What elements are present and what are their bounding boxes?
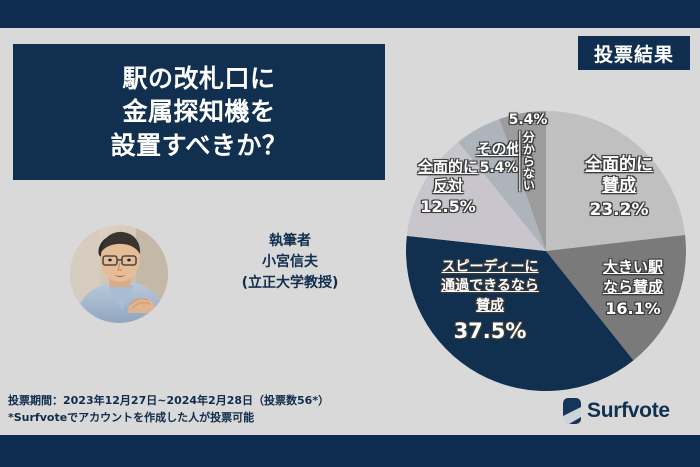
page-title-line-1: 駅の改札口に bbox=[122, 62, 275, 95]
surfvote-wordmark: Surfvote bbox=[587, 399, 670, 423]
question-title-box: 駅の改札口に 金属探知機を 設置すべきか？ bbox=[13, 44, 385, 180]
status-badge: 投票結果 bbox=[578, 36, 690, 70]
avatar-portrait-icon bbox=[70, 225, 168, 323]
vote-period: 投票期間：2023年12月27日~2024年2月28日（投票数56*） bbox=[8, 392, 428, 409]
author-role: 執筆者 bbox=[205, 231, 375, 252]
avatar bbox=[70, 225, 168, 323]
page-title-line-3: 設置すべきか？ bbox=[111, 129, 288, 162]
author-block: 執筆者 小宮信夫 (立正大学教授) bbox=[70, 225, 370, 340]
pie-slices bbox=[406, 111, 686, 391]
bottom-navy-bar bbox=[0, 435, 700, 467]
status-badge-label: 投票結果 bbox=[594, 40, 674, 67]
poll-result-pie-chart: 全面的に 賛成 23.2% 大きい駅 なら賛成 16.1% スピーディーに 通過… bbox=[405, 110, 687, 392]
poster-canvas: 投票結果 駅の改札口に 金属探知機を 設置すべきか？ bbox=[0, 0, 700, 467]
footer-note: 投票期間：2023年12月27日~2024年2月28日（投票数56*） *Sur… bbox=[8, 392, 428, 426]
vote-eligibility-note: *Surfvoteでアカウントを作成した人が投票可能 bbox=[8, 409, 428, 426]
surfvote-logo: Surfvote bbox=[563, 398, 670, 424]
pie-slice-0 bbox=[546, 111, 685, 251]
page-title-line-2: 金属探知機を bbox=[122, 95, 275, 128]
surfvote-mark-icon bbox=[563, 398, 581, 424]
top-navy-bar bbox=[0, 0, 700, 28]
author-name: 小宮信夫 bbox=[205, 252, 375, 273]
pie-svg bbox=[405, 110, 687, 392]
author-affiliation: (立正大学教授) bbox=[205, 273, 375, 294]
author-info: 執筆者 小宮信夫 (立正大学教授) bbox=[205, 231, 375, 294]
